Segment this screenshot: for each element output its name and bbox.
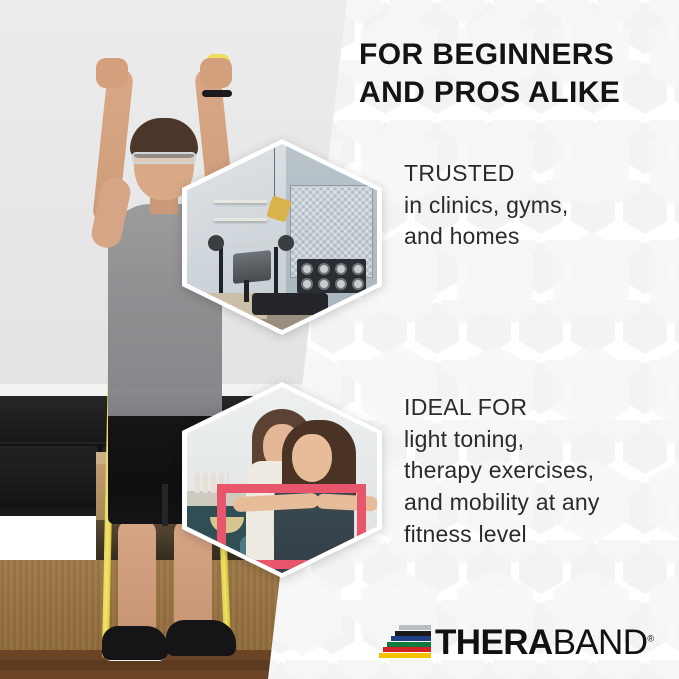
gym-shelf: [214, 218, 267, 221]
gym-ottoman: [252, 293, 328, 315]
theraband-stripes-icon: [379, 625, 431, 659]
blurb-body-line: in clinics, gyms,: [404, 190, 679, 222]
person-shoe-right: [166, 620, 236, 656]
blurb-body-line: light toning,: [404, 424, 679, 456]
gym-rack-upright: [274, 244, 278, 292]
page-title: FOR BEGINNERS AND PROS ALIKE: [359, 36, 669, 113]
person-wristband: [202, 90, 232, 97]
registered-mark: ®: [647, 633, 653, 643]
red-resistance-band-top: [217, 484, 365, 493]
headline-line-1: FOR BEGINNERS: [359, 36, 669, 74]
blurb-lead: TRUSTED: [404, 158, 679, 190]
wordmark-bold: THERA: [435, 623, 553, 662]
blurb-body-line: and mobility at any: [404, 487, 679, 519]
infographic-canvas: FOR BEGINNERS AND PROS ALIKE TRUSTED in …: [0, 0, 679, 679]
gym-dumbbell: [318, 278, 330, 290]
blurb-lead: IDEAL FOR: [404, 392, 679, 424]
blurb-body-line: fitness level: [404, 519, 679, 551]
logo-stripe-blue: [391, 636, 431, 641]
feature-blurb-trusted: TRUSTED in clinics, gyms, and homes: [404, 158, 679, 253]
logo-stripe-green: [387, 642, 431, 647]
logo-stripe-gold: [379, 653, 431, 658]
logo-stripe-silver: [399, 625, 431, 630]
gym-dumbbell: [301, 263, 313, 275]
blurb-body-line: and homes: [404, 221, 679, 253]
headline-line-2: AND PROS ALIKE: [359, 74, 669, 112]
gym-rack-upright: [219, 244, 223, 292]
brand-logo: THERABAND®: [379, 622, 641, 662]
person-fist-right: [200, 58, 232, 88]
gym-bench-leg: [244, 280, 249, 302]
red-resistance-band: [217, 484, 365, 570]
gym-dumbbell: [335, 278, 347, 290]
client-face: [292, 434, 332, 482]
person-shorts-split: [162, 484, 168, 526]
blurb-body-line: therapy exercises,: [404, 455, 679, 487]
person-fist-left: [96, 58, 128, 88]
brand-wordmark: THERABAND®: [435, 625, 653, 660]
logo-stripe-black: [395, 631, 431, 636]
gym-weight-plate: [208, 235, 224, 251]
wordmark-light: BAND: [553, 623, 648, 662]
gym-dumbbell: [301, 278, 313, 290]
logo-stripe-red: [383, 647, 431, 652]
hex-image-therapy-session: [182, 382, 382, 578]
gym-pendant-cord: [274, 144, 275, 200]
person-leg-left: [118, 520, 156, 638]
gym-bench: [233, 250, 271, 284]
gym-shelf: [214, 200, 267, 203]
feature-blurb-ideal-for: IDEAL FOR light toning, therapy exercise…: [404, 392, 679, 551]
person-shoe-left: [102, 626, 168, 660]
hex-image-home-gym: [182, 139, 382, 335]
